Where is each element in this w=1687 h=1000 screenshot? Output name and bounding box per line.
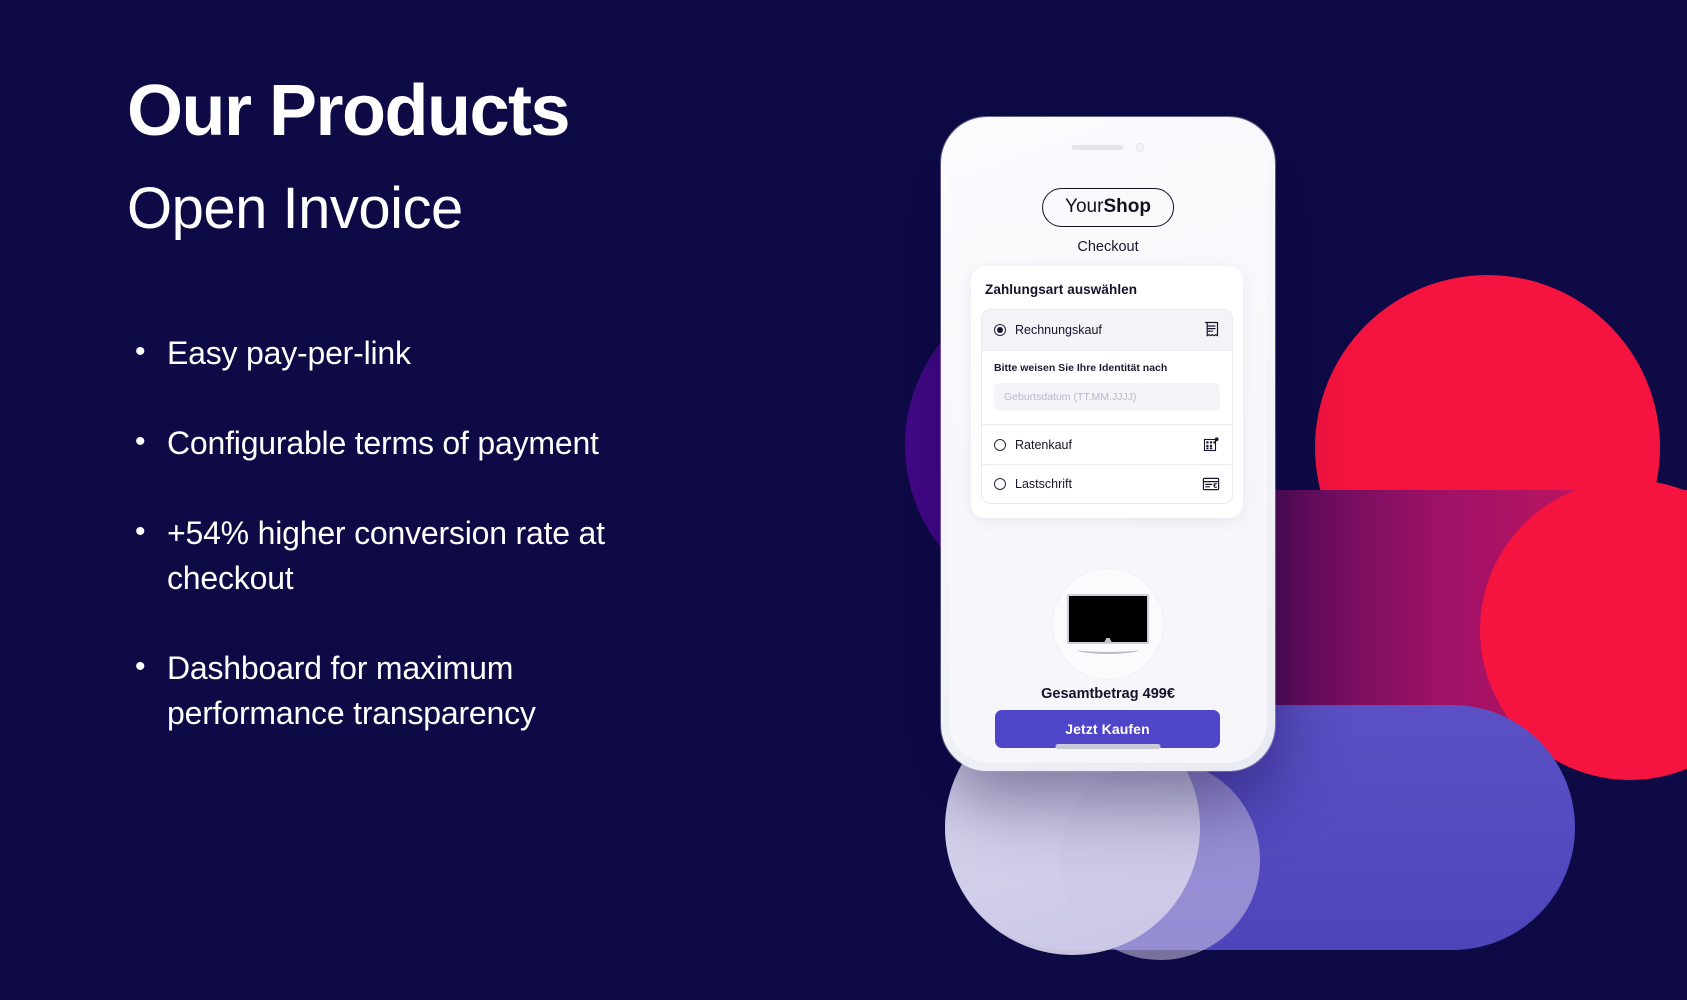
identity-verification-panel: Bitte weisen Sie Ihre Identität nach	[982, 350, 1232, 424]
bullet-marker-icon: •	[127, 646, 167, 688]
checkout-page-label: Checkout	[1077, 239, 1138, 255]
phone-screen: YourShop Checkout Zahlungsart auswählen …	[949, 125, 1267, 763]
svg-text:€: €	[1213, 481, 1218, 490]
birthdate-input[interactable]	[994, 383, 1220, 411]
bullet-marker-icon: •	[127, 331, 167, 373]
payment-option-lastschrift[interactable]: Lastschrift €	[982, 464, 1232, 503]
list-item: • +54% higher conversion rate at checkou…	[127, 511, 827, 601]
payment-method-card: Zahlungsart auswählen Rechnungskauf	[971, 266, 1243, 518]
text-column: Our Products Open Invoice • Easy pay-per…	[127, 74, 827, 781]
radio-rechnungskauf[interactable]	[994, 324, 1006, 336]
bank-card-euro-icon: €	[1202, 476, 1220, 492]
radio-lastschrift[interactable]	[994, 478, 1006, 490]
page-subtitle: Open Invoice	[127, 174, 827, 244]
shop-logo-bold-text: Shop	[1103, 196, 1151, 217]
payment-option-label: Rechnungskauf	[1015, 323, 1193, 337]
television-icon	[1067, 594, 1149, 654]
receipt-icon	[1202, 321, 1220, 339]
identity-note: Bitte weisen Sie Ihre Identität nach	[994, 362, 1220, 374]
tv-stand	[1077, 645, 1139, 654]
payment-option-ratenkauf[interactable]: Ratenkauf	[982, 424, 1232, 464]
bullet-marker-icon: •	[127, 511, 167, 553]
payment-option-rechnungskauf[interactable]: Rechnungskauf	[982, 310, 1232, 350]
speaker-grill-icon	[1072, 145, 1124, 150]
bullet-text: Configurable terms of payment	[167, 421, 599, 466]
page-title: Our Products	[127, 74, 827, 150]
list-item: • Easy pay-per-link	[127, 331, 827, 376]
list-item: • Configurable terms of payment	[127, 421, 827, 466]
front-camera-icon	[1136, 143, 1145, 152]
slide-root: Our Products Open Invoice • Easy pay-per…	[0, 0, 1687, 1000]
phone-speaker-assembly	[1072, 143, 1145, 152]
payment-option-label: Ratenkauf	[1015, 438, 1193, 452]
calculator-icon	[1202, 436, 1220, 453]
payment-option-label: Lastschrift	[1015, 477, 1193, 491]
feature-bullet-list: • Easy pay-per-link • Configurable terms…	[127, 331, 827, 736]
shop-logo-light-text: Your	[1065, 196, 1103, 217]
list-item: • Dashboard for maximum performance tran…	[127, 646, 827, 736]
buy-now-button[interactable]: Jetzt Kaufen	[995, 710, 1220, 748]
phone-mockup: YourShop Checkout Zahlungsart auswählen …	[941, 117, 1275, 771]
tv-screen	[1067, 594, 1149, 644]
total-amount-label: Gesamtbetrag 499€	[1041, 686, 1175, 702]
payment-options-list: Rechnungskauf Bitte weisen Sie	[981, 309, 1233, 504]
bullet-marker-icon: •	[127, 421, 167, 463]
bullet-text: Dashboard for maximum performance transp…	[167, 646, 687, 736]
home-indicator	[1056, 744, 1161, 749]
bullet-text: Easy pay-per-link	[167, 331, 411, 376]
radio-ratenkauf[interactable]	[994, 439, 1006, 451]
payment-card-title: Zahlungsart auswählen	[971, 282, 1243, 309]
bullet-text: +54% higher conversion rate at checkout	[167, 511, 687, 601]
product-thumbnail	[1052, 568, 1164, 680]
shop-logo: YourShop	[1042, 188, 1174, 227]
decor-lavender-circle-small	[1060, 760, 1260, 960]
